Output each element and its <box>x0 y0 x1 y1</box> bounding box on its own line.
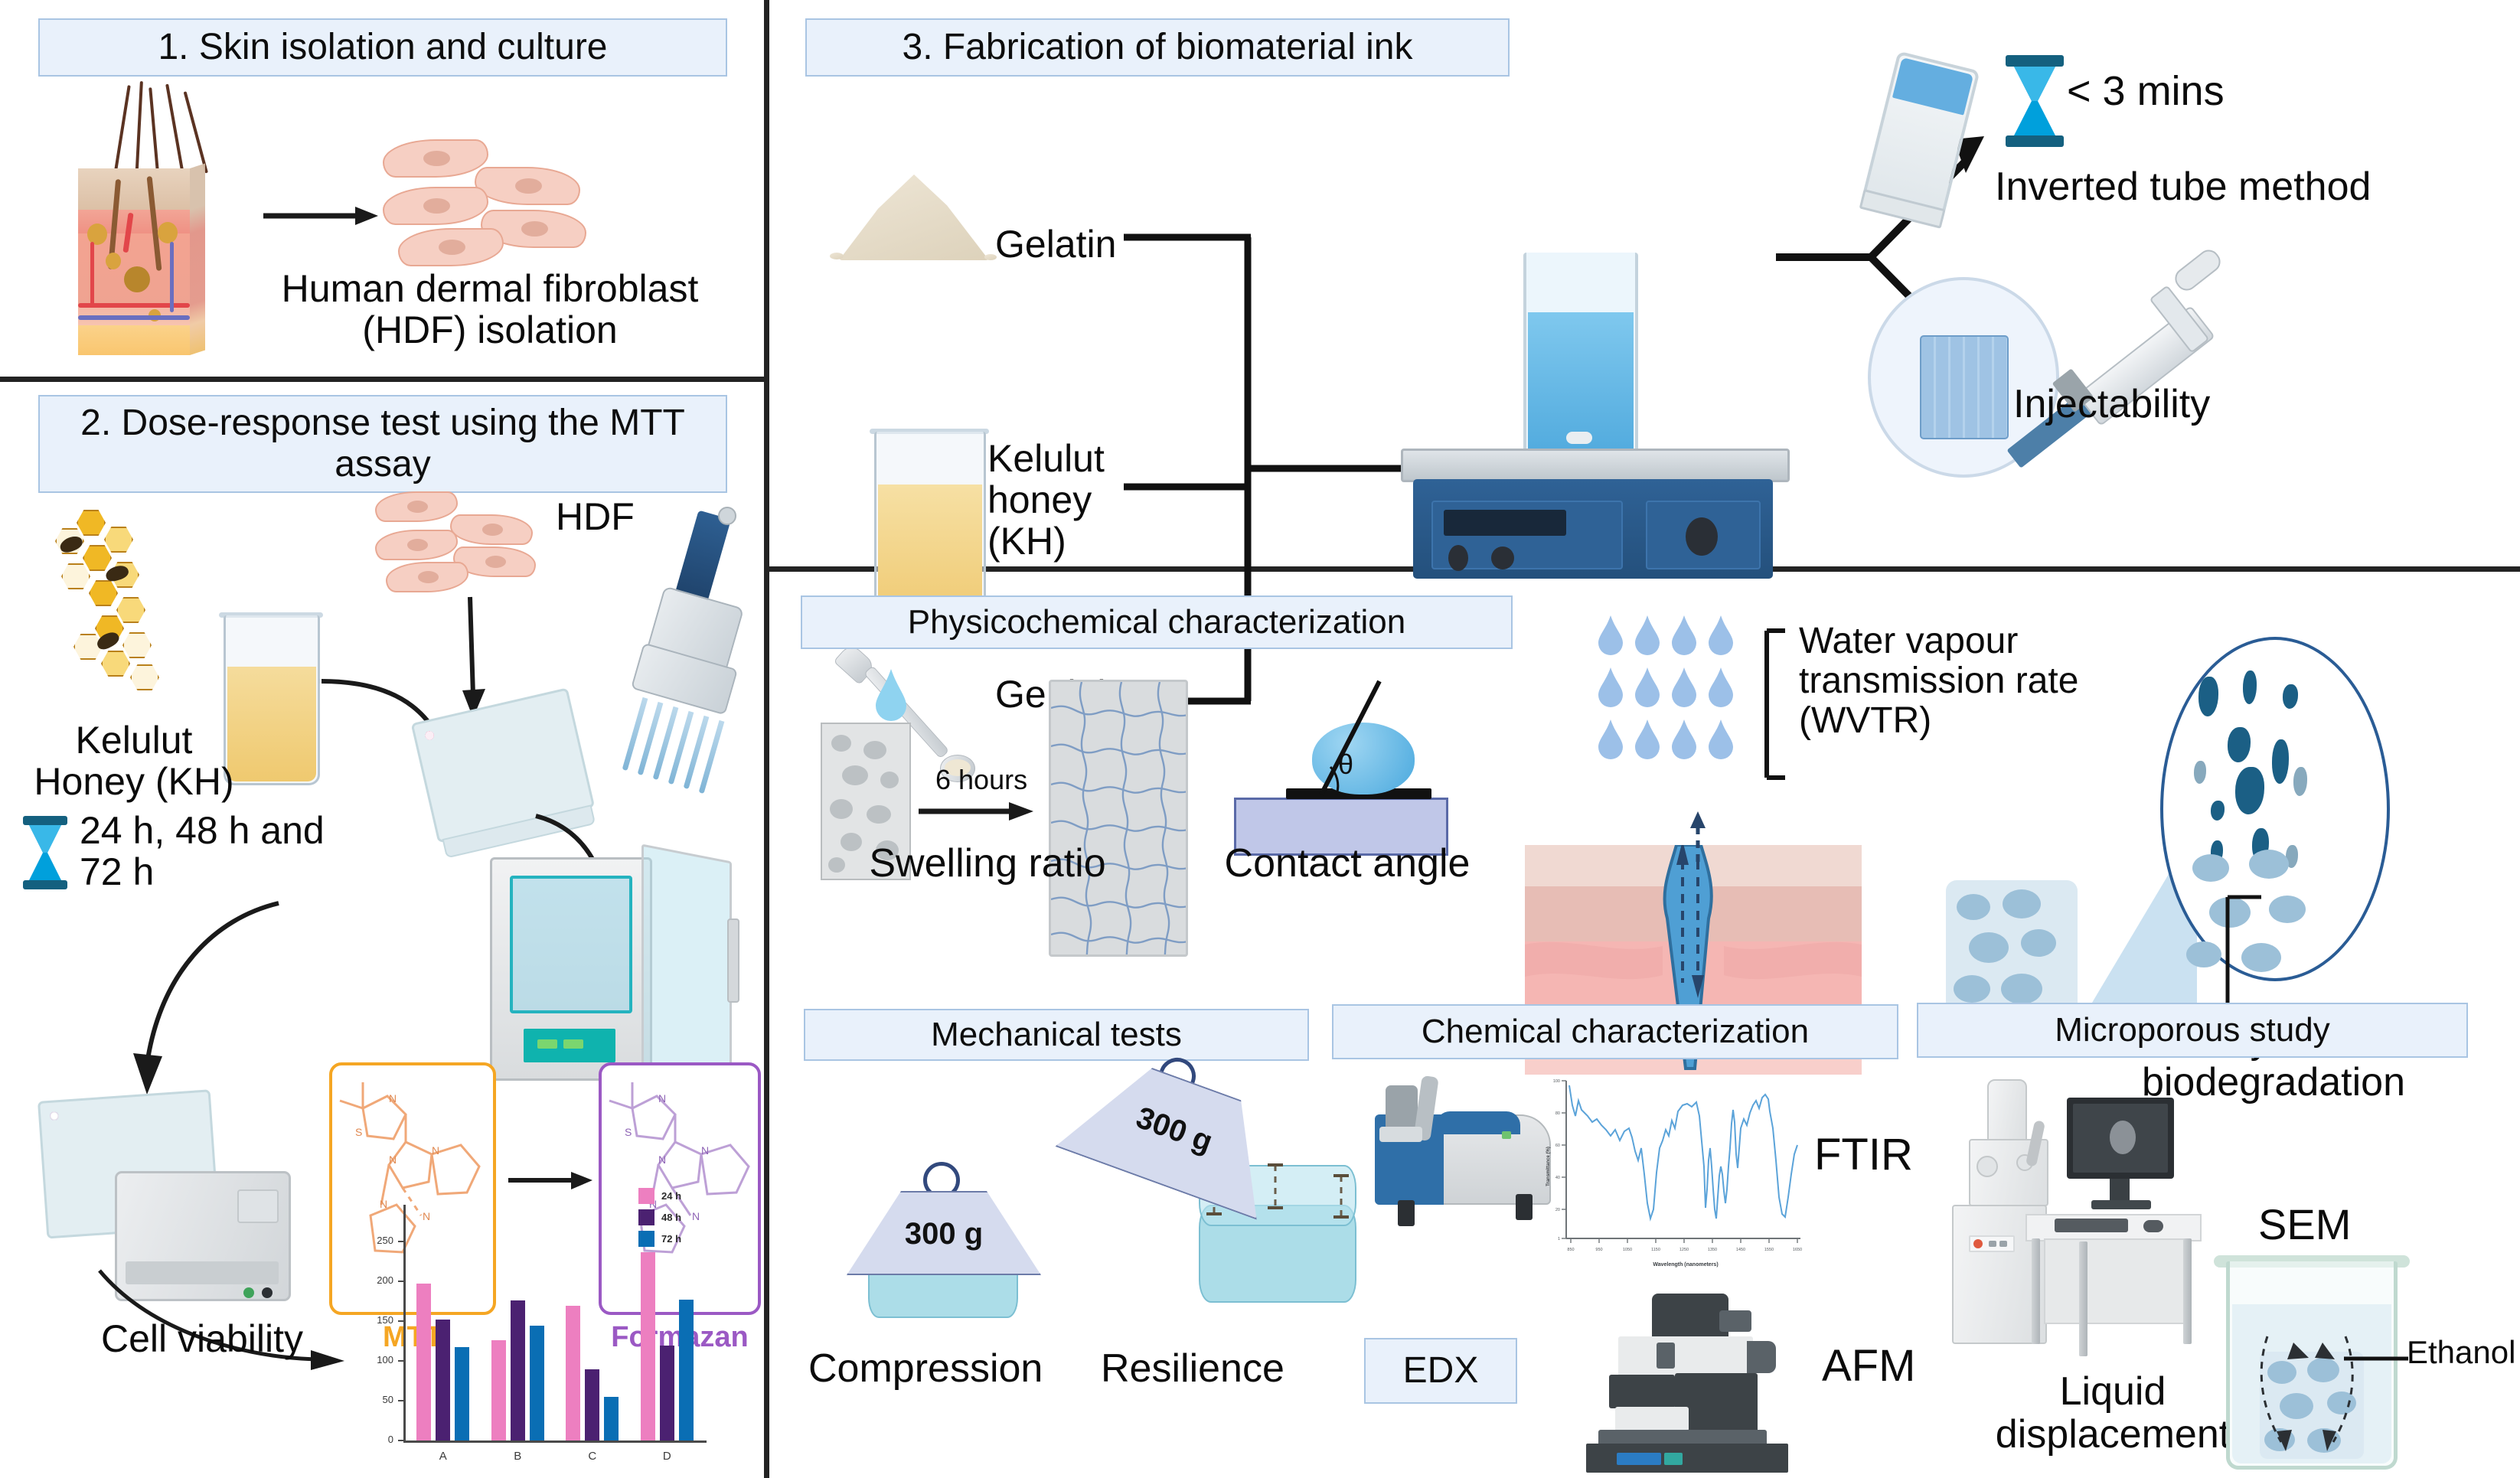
chart-y-tick <box>398 1320 404 1322</box>
swelling-ratio-label: Swelling ratio <box>811 842 1164 885</box>
svg-text:1250: 1250 <box>1679 1248 1689 1252</box>
chart-x-tick-label: D <box>630 1450 705 1463</box>
injectability-label: Injectability <box>2013 383 2210 426</box>
svg-text:20: 20 <box>1555 1208 1560 1212</box>
chart-x-tick-label: A <box>406 1450 481 1463</box>
chart-y-tick-label: 150 <box>358 1314 393 1326</box>
injectability-illustration <box>1868 254 2296 484</box>
svg-text:60: 60 <box>1555 1144 1560 1148</box>
svg-text:N: N <box>432 1144 439 1157</box>
chart-y-tick-label: 100 <box>358 1354 393 1365</box>
chart-legend-label: 24 h <box>661 1190 681 1202</box>
swollen-scaffold-sample <box>1049 680 1188 957</box>
kelulut-honey-beaker-illustration <box>873 429 987 620</box>
svg-text:S: S <box>625 1126 632 1138</box>
compression-weight-label: 300 g <box>847 1217 1041 1251</box>
panel2-cell-viability-label: Cell viability <box>101 1318 303 1359</box>
chart-legend-label: 72 h <box>661 1233 681 1245</box>
gelatin-powder-illustration <box>827 161 1003 268</box>
sem-monitor <box>2067 1098 2174 1179</box>
multichannel-pipette-illustration <box>605 505 781 827</box>
svg-text:N: N <box>658 1092 666 1104</box>
inverted-tube-time-label: < 3 mins <box>2067 69 2225 113</box>
ftir-instrument-illustration <box>1352 1072 1566 1240</box>
contact-angle-theta-symbol: θ <box>1338 749 1353 781</box>
panel1-output-label: Human dermal fibroblast (HDF) isolation <box>253 268 727 351</box>
chart-x-axis <box>403 1440 707 1443</box>
chart-x-tick-label: C <box>555 1450 630 1463</box>
resilience-label: Resilience <box>1101 1347 1284 1390</box>
chart-y-tick-label: 250 <box>358 1235 393 1246</box>
magnetic-stirrer-illustration <box>1401 253 1799 543</box>
svg-text:1: 1 <box>1558 1237 1560 1241</box>
svg-text:1550: 1550 <box>1764 1248 1774 1252</box>
chart-y-tick <box>398 1440 404 1441</box>
panel1-arrow <box>263 205 378 228</box>
chart-y-tick <box>398 1281 404 1282</box>
afm-label: AFM <box>1822 1343 1915 1391</box>
physicochemical-title-banner: Physicochemical characterization <box>801 595 1513 649</box>
hydrogel-mesh <box>1920 335 2009 439</box>
chart-legend-swatch <box>638 1209 654 1225</box>
svg-text:S: S <box>355 1126 362 1138</box>
afm-instrument-illustration <box>1582 1294 1819 1473</box>
chemical-characterization-title-banner: Chemical characterization <box>1332 1004 1898 1059</box>
chart-y-tick <box>398 1360 404 1362</box>
svg-text:80: 80 <box>1555 1111 1560 1116</box>
svg-text:N: N <box>701 1144 709 1157</box>
panel-3-title-banner: 3. Fabrication of biomaterial ink <box>805 18 1510 77</box>
swelling-duration-label: 6 hours <box>935 765 1027 795</box>
mechanical-tests-title-banner: Mechanical tests <box>804 1009 1309 1061</box>
swelling-arrow <box>919 801 1033 824</box>
inverted-tube-method-label: Inverted tube method <box>1995 165 2371 208</box>
fibroblast-cells-illustration <box>383 130 635 268</box>
chart-y-tick-label: 0 <box>358 1434 393 1445</box>
chart-legend-item: 24 h <box>638 1188 681 1204</box>
sem-label: SEM <box>2258 1202 2351 1248</box>
svg-text:1150: 1150 <box>1651 1248 1660 1252</box>
svg-text:100: 100 <box>1553 1079 1560 1084</box>
hdf-cells-illustration <box>375 490 574 597</box>
svg-text:1650: 1650 <box>1793 1248 1802 1252</box>
chart-legend-item: 72 h <box>638 1231 681 1247</box>
chart-legend: 24 h48 h72 h <box>638 1188 681 1252</box>
ethanol-leader-line <box>2344 1355 2413 1362</box>
wvtr-droplets <box>1592 612 1761 773</box>
compression-label: Compression <box>808 1347 1043 1390</box>
svg-text:1050: 1050 <box>1623 1248 1632 1252</box>
svg-text:N: N <box>389 1092 397 1104</box>
hourglass-icon-3mins <box>2004 55 2065 147</box>
panel2-honey-label: Kelulut Honey (KH) <box>8 719 260 802</box>
svg-text:N: N <box>658 1153 666 1166</box>
chart-legend-item: 48 h <box>638 1209 681 1225</box>
resilience-test-illustration: 300 g <box>1064 1056 1370 1347</box>
chart-legend-swatch <box>638 1188 654 1204</box>
hourglass-icon <box>21 816 69 889</box>
ftir-label: FTIR <box>1814 1131 1913 1179</box>
svg-text:850: 850 <box>1567 1248 1574 1252</box>
svg-text:Wavelength (nanometers): Wavelength (nanometers) <box>1653 1262 1718 1268</box>
panel3-ingredient-gelatin-label: Gelatin <box>995 223 1116 265</box>
panel2-timepoints-label: 24 h, 48 h and 72 h <box>80 810 401 892</box>
water-droplet-icon <box>874 667 908 721</box>
panel-1-title-banner: 1. Skin isolation and culture <box>38 18 727 77</box>
stirrer-beaker <box>1523 253 1638 467</box>
chart-legend-label: 48 h <box>661 1212 681 1223</box>
panel-2-title-banner: 2. Dose-response test using the MTT assa… <box>38 395 727 493</box>
contact-angle-label: Contact angle <box>1194 842 1500 885</box>
microporous-study-title-banner: Microporous study <box>1917 1003 2468 1058</box>
contact-angle-illustration: θ <box>1217 681 1470 857</box>
chart-y-tick <box>398 1400 404 1401</box>
cell-viability-bar-chart: 050100150200250 ABCD 24 h48 h72 h <box>346 1188 744 1478</box>
svg-text:1450: 1450 <box>1736 1248 1745 1252</box>
wvtr-bracket <box>1761 629 1788 779</box>
svg-text:Transmittance (%): Transmittance (%) <box>1546 1147 1551 1186</box>
panel2-arrow-cells-to-plate <box>455 597 501 719</box>
chart-legend-swatch <box>638 1231 654 1247</box>
wvtr-updown-arrows <box>1672 811 1725 865</box>
edx-banner: EDX <box>1364 1338 1517 1404</box>
chart-x-tick-label: B <box>481 1450 556 1463</box>
chart-y-tick-label: 50 <box>358 1394 393 1405</box>
wvtr-label: Water vapour transmission rate (WVTR) <box>1799 622 2151 740</box>
ethanol-beaker-illustration <box>2220 1255 2404 1477</box>
divider-horizontal-left <box>0 377 764 382</box>
svg-text:N: N <box>389 1153 397 1166</box>
svg-text:40: 40 <box>1555 1176 1560 1180</box>
chart-y-tick-label: 200 <box>358 1274 393 1286</box>
compression-test-illustration: 300 g <box>827 1157 1056 1341</box>
chart-plot-area: 050100150200250 ABCD <box>406 1222 704 1440</box>
svg-text:1350: 1350 <box>1708 1248 1717 1252</box>
figure-canvas: 1. Skin isolation and culture <box>0 0 2520 1478</box>
svg-text:950: 950 <box>1595 1248 1602 1252</box>
ftir-spectrum-chart: 8509501050 115012501350 145015501650 100… <box>1540 1075 1807 1283</box>
ethanol-label: Ethanol <box>2407 1335 2515 1369</box>
chart-y-tick <box>398 1241 404 1242</box>
honeycomb-illustration <box>46 507 222 729</box>
